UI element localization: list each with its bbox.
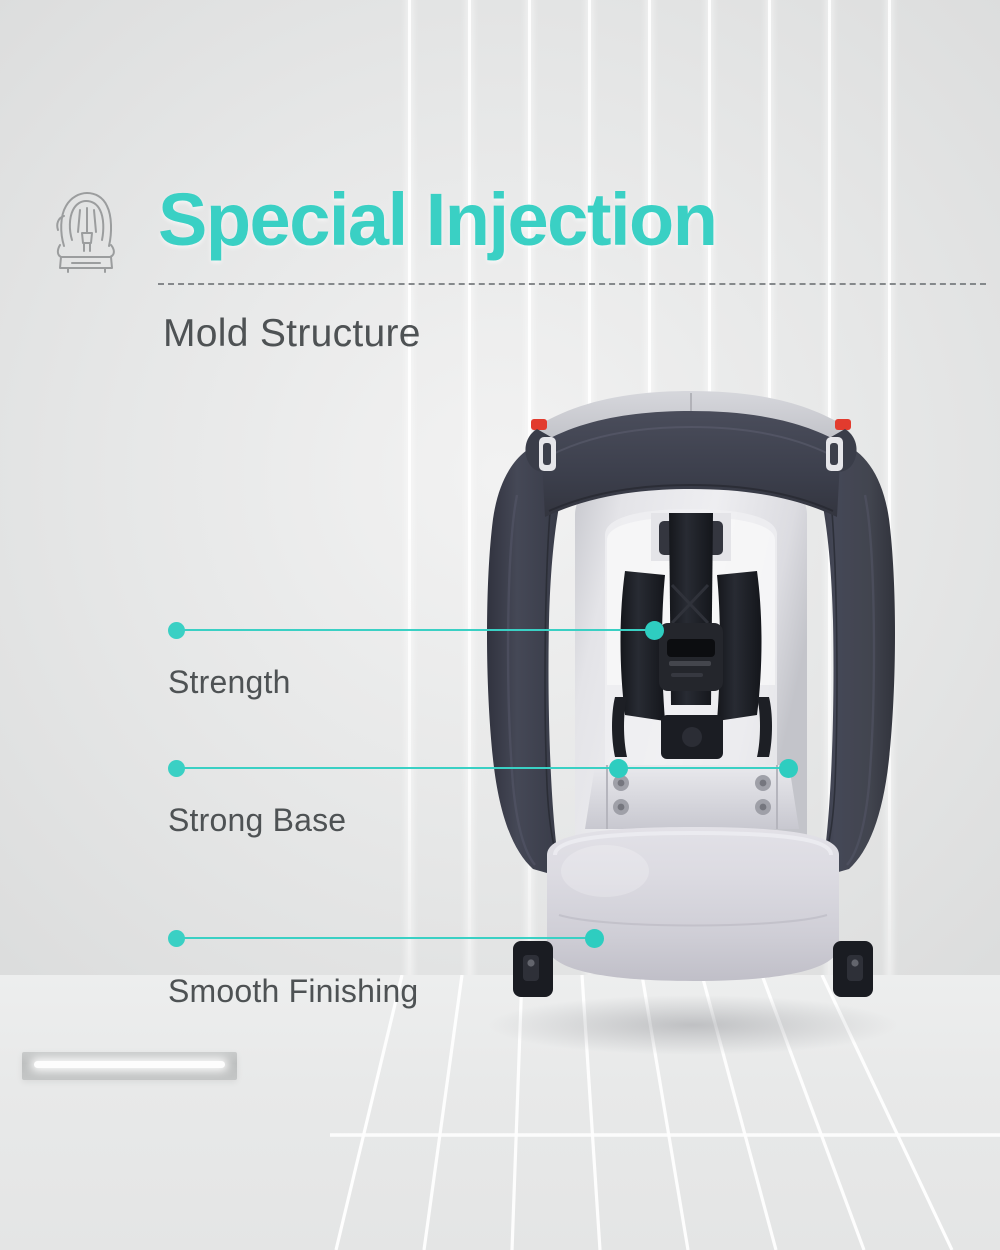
callout-smooth-finishing[interactable]: Smooth Finishing — [168, 930, 618, 1025]
light-bar — [22, 1052, 237, 1080]
callout-strength[interactable]: Strength — [168, 622, 688, 712]
accent-tab-left — [531, 419, 547, 430]
callout-label: Smooth Finishing — [168, 973, 418, 1010]
callout-endpoint — [609, 759, 628, 778]
base-connector-right — [833, 941, 873, 997]
backdrop-slat — [408, 0, 411, 1045]
page-subtitle: Mold Structure — [163, 312, 421, 356]
harness-strap-right — [717, 571, 762, 721]
car-seat-icon — [48, 188, 124, 276]
callout-endpoint — [585, 929, 604, 948]
callout-line — [178, 767, 796, 769]
callout-line — [178, 629, 653, 631]
infographic-canvas: Special Injection Mold Structure — [0, 0, 1000, 1250]
callout-strong-base[interactable]: Strong Base — [168, 760, 818, 850]
callout-endpoint — [645, 621, 664, 640]
page-title: Special Injection — [158, 183, 716, 257]
title-divider — [158, 283, 986, 285]
callout-line — [178, 937, 593, 939]
callout-label: Strength — [168, 664, 291, 701]
accent-tab-right — [835, 419, 851, 430]
callout-endpoint-secondary — [779, 759, 798, 778]
callout-label: Strong Base — [168, 802, 346, 839]
